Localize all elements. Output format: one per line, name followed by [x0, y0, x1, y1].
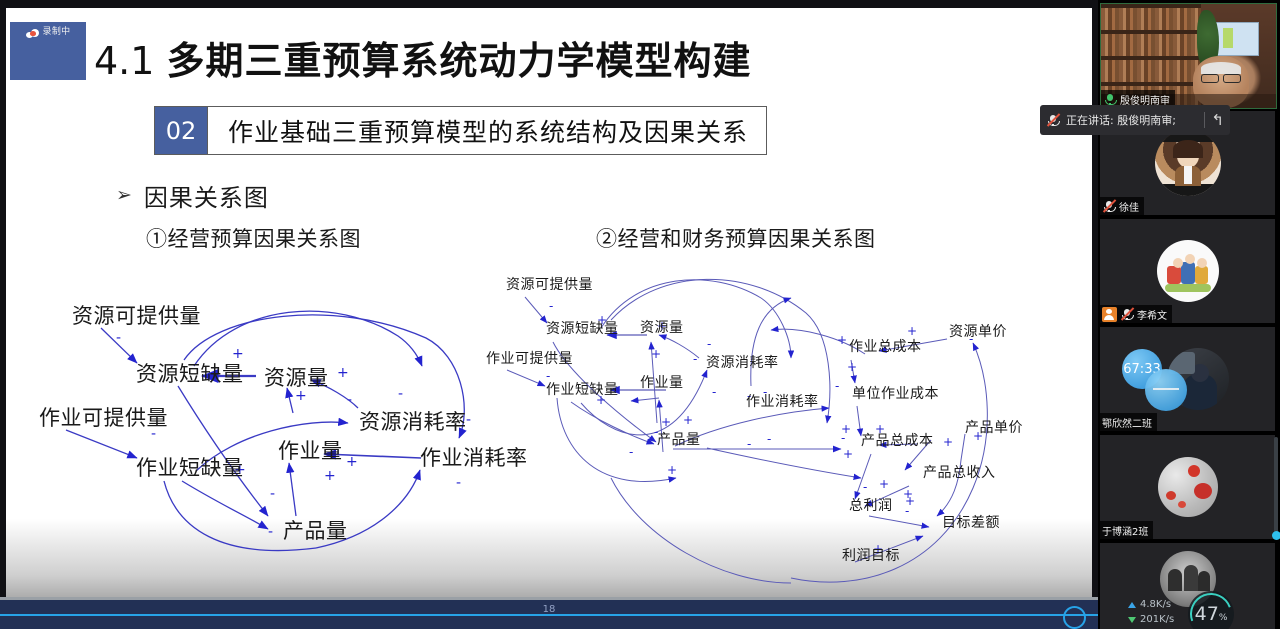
node-r-作业消耗率: 作业消耗率 [746, 391, 819, 411]
svg-text:+: + [843, 447, 853, 461]
node-r-产品单价: 产品单价 [965, 417, 1023, 437]
svg-text:+: + [943, 435, 953, 449]
network-stats-overlay: 4.8K/s 201K/s 47% [1118, 595, 1275, 629]
network-download: 201K/s [1128, 614, 1174, 625]
mic-muted-icon [1046, 113, 1060, 127]
node-资源可提供量: 资源可提供量 [72, 300, 201, 330]
node-资源短缺量: 资源短缺量 [136, 358, 244, 388]
network-quality-ring: 47% [1188, 591, 1234, 629]
svg-text:+: + [837, 333, 847, 347]
mic-muted-icon [1120, 307, 1134, 321]
node-作业短缺量: 作业短缺量 [136, 452, 244, 482]
svg-text:+: + [667, 463, 677, 477]
upload-arrow-icon [1128, 602, 1136, 608]
timer-badge-secondary [1145, 369, 1187, 411]
node-r-作业量: 作业量 [640, 372, 684, 392]
mic-on-icon [1103, 92, 1117, 106]
node-r-资源可提供量: 资源可提供量 [506, 274, 593, 294]
presentation-slide[interactable]: 录制中 4.1 多期三重预算系统动力学模型构建 02 作业基础三重预算模型的系统… [6, 8, 1092, 597]
sidebar-scrollbar[interactable] [1272, 437, 1279, 537]
node-r-目标差额: 目标差额 [942, 512, 1000, 532]
participant-video-sidebar[interactable]: 殷俊明南审 正在讲话: 殷俊明南审; ↰ [1098, 0, 1280, 629]
svg-text:+: + [324, 468, 336, 484]
scrollbar-thumb[interactable] [1272, 531, 1280, 540]
svg-text:-: - [347, 392, 352, 408]
node-r-作业总成本: 作业总成本 [849, 336, 922, 356]
svg-text:-: - [693, 352, 697, 366]
node-r-资源短缺量: 资源短缺量 [546, 318, 619, 338]
node-r-产品量: 产品量 [657, 429, 701, 449]
back-arrow-icon[interactable]: ↰ [1211, 113, 1224, 128]
svg-text:-: - [549, 299, 553, 313]
network-percent: 47% [1195, 603, 1228, 625]
meeting-screen-share-window: 录制中 4.1 多期三重预算系统动力学模型构建 02 作业基础三重预算模型的系统… [0, 0, 1280, 629]
node-r-产品总成本: 产品总成本 [861, 430, 934, 450]
node-r-资源单价: 资源单价 [949, 321, 1007, 341]
svg-text:-: - [841, 431, 845, 445]
banner-divider [1204, 112, 1205, 128]
mic-muted-icon [1102, 199, 1116, 213]
participant-name: 徐佳 [1119, 199, 1139, 214]
participant-tile-5[interactable]: 4.8K/s 201K/s 47% [1100, 543, 1275, 629]
svg-text:-: - [116, 330, 121, 346]
participant-name-tag: 于博涵2班 [1100, 521, 1153, 539]
svg-text:-: - [707, 337, 711, 351]
participant-tile-2[interactable]: 李希文 [1100, 219, 1275, 323]
svg-text:+: + [683, 413, 693, 427]
node-资源量: 资源量 [264, 362, 329, 392]
svg-text:-: - [905, 504, 909, 518]
node-产品量: 产品量 [283, 515, 348, 545]
node-r-资源量: 资源量 [640, 317, 684, 337]
network-upload: 4.8K/s [1128, 599, 1171, 610]
scrollbar-track [1274, 437, 1278, 537]
slide-progress-handle[interactable] [1063, 606, 1086, 629]
download-speed: 201K/s [1140, 614, 1174, 625]
svg-text:+: + [879, 477, 889, 491]
node-r-资源消耗率: 资源消耗率 [706, 352, 779, 372]
node-r-总利润: 总利润 [849, 495, 893, 515]
svg-text:-: - [767, 432, 771, 446]
node-作业量: 作业量 [278, 435, 343, 465]
diagram-right-svg: + + + + + + + + + + + + + + + [461, 8, 1092, 597]
causal-loop-diagram-right: + + + + + + + + + + + + + + + [461, 8, 1092, 597]
participant-tile-0[interactable]: 殷俊明南审 [1100, 3, 1277, 109]
active-speaker-text: 正在讲话: 殷俊明南审; [1066, 112, 1176, 128]
participant-name-tag: 鄂欣然二班 [1100, 413, 1157, 431]
svg-text:-: - [398, 386, 403, 402]
svg-text:+: + [847, 360, 857, 374]
host-icon [1102, 307, 1117, 322]
svg-text:+: + [337, 365, 349, 381]
node-r-作业可提供量: 作业可提供量 [486, 348, 573, 368]
node-资源消耗率: 资源消耗率 [359, 406, 467, 436]
svg-text:-: - [268, 524, 273, 540]
participant-name: 李希文 [1137, 307, 1167, 322]
svg-text:-: - [863, 480, 867, 494]
slide-control-bar[interactable]: 18 [0, 597, 1098, 629]
svg-text:-: - [747, 437, 751, 451]
avatar [1157, 240, 1219, 302]
node-r-利润目标: 利润目标 [842, 545, 900, 565]
participant-name-tag: 徐佳 [1100, 197, 1144, 215]
participant-name-tag: 李希文 [1100, 305, 1172, 323]
upload-speed: 4.8K/s [1140, 599, 1171, 610]
svg-text:-: - [835, 379, 839, 393]
download-arrow-icon [1128, 617, 1136, 623]
participant-tile-4[interactable]: 于博涵2班 [1100, 435, 1275, 539]
control-bar-divider [0, 597, 1098, 600]
svg-text:-: - [712, 385, 716, 399]
active-speaker-banner[interactable]: 正在讲话: 殷俊明南审; ↰ [1040, 105, 1230, 135]
shared-screen-region[interactable]: 录制中 4.1 多期三重预算系统动力学模型构建 02 作业基础三重预算模型的系统… [0, 0, 1098, 629]
participant-tile-3[interactable]: 67:33 鄂欣然二班 [1100, 327, 1275, 431]
node-r-单位作业成本: 单位作业成本 [852, 383, 939, 403]
avatar [1155, 130, 1221, 196]
node-r-作业短缺量: 作业短缺量 [546, 379, 619, 399]
avatar [1158, 457, 1218, 517]
node-作业可提供量: 作业可提供量 [39, 402, 168, 432]
svg-text:+: + [346, 454, 358, 470]
svg-text:-: - [629, 445, 633, 459]
participant-name: 鄂欣然二班 [1102, 415, 1152, 430]
node-r-产品总收入: 产品总收入 [923, 462, 996, 482]
svg-text:+: + [651, 347, 661, 361]
slide-progress-line[interactable] [0, 614, 1098, 616]
svg-text:+: + [661, 415, 671, 429]
svg-text:-: - [270, 486, 275, 502]
participant-name: 于博涵2班 [1102, 523, 1148, 538]
